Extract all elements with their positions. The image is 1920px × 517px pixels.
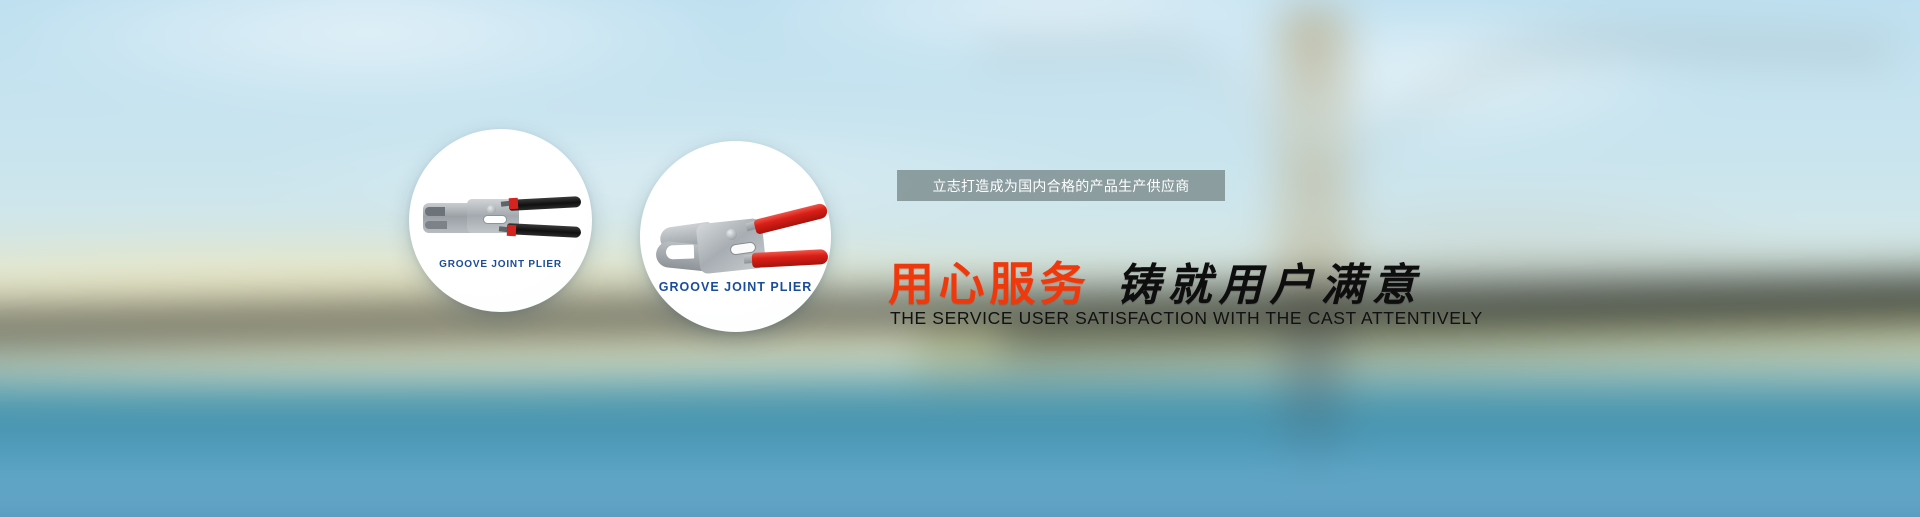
promo-banner: GROOVE JOINT PLIER GROOVE JOINT PLIER 立志… — [0, 0, 1920, 517]
tagline-bar-text: 立志打造成为国内合格的产品生产供应商 — [932, 176, 1189, 196]
product-circle-2[interactable]: GROOVE JOINT PLIER — [640, 141, 831, 332]
water-sheen — [0, 338, 1920, 354]
plier-slot — [483, 215, 507, 224]
headline: 用心服务 铸就用户满意 — [888, 248, 1423, 314]
water-sheen — [0, 386, 1920, 398]
plier-handle — [507, 223, 581, 238]
product-label-2: GROOVE JOINT PLIER — [640, 280, 831, 294]
product-circle-1[interactable]: GROOVE JOINT PLIER — [409, 129, 592, 312]
tower-brace — [1285, 170, 1341, 182]
subheadline: THE SERVICE USER SATISFACTION WITH THE C… — [890, 308, 1483, 329]
plier-handle — [752, 249, 829, 268]
plier-handle — [753, 202, 828, 234]
plier-handle — [509, 196, 581, 211]
headline-red-part: 用心服务 — [888, 248, 1090, 314]
tower-brace — [1285, 68, 1341, 80]
cloud-wisp — [22, 0, 716, 106]
plier-jaw-gap — [666, 245, 694, 260]
plier-collar — [509, 198, 519, 209]
product-label-1: GROOVE JOINT PLIER — [409, 259, 592, 270]
groove-joint-plier-icon — [654, 199, 820, 287]
headline-black-part: 铸就用户满意 — [1116, 249, 1422, 313]
plier-rivet — [726, 229, 737, 240]
plier-rivet — [487, 205, 496, 214]
tagline-bar: 立志打造成为国内合格的产品生产供应商 — [897, 170, 1225, 201]
plier-collar — [507, 225, 517, 236]
groove-joint-plier-icon — [421, 181, 583, 251]
